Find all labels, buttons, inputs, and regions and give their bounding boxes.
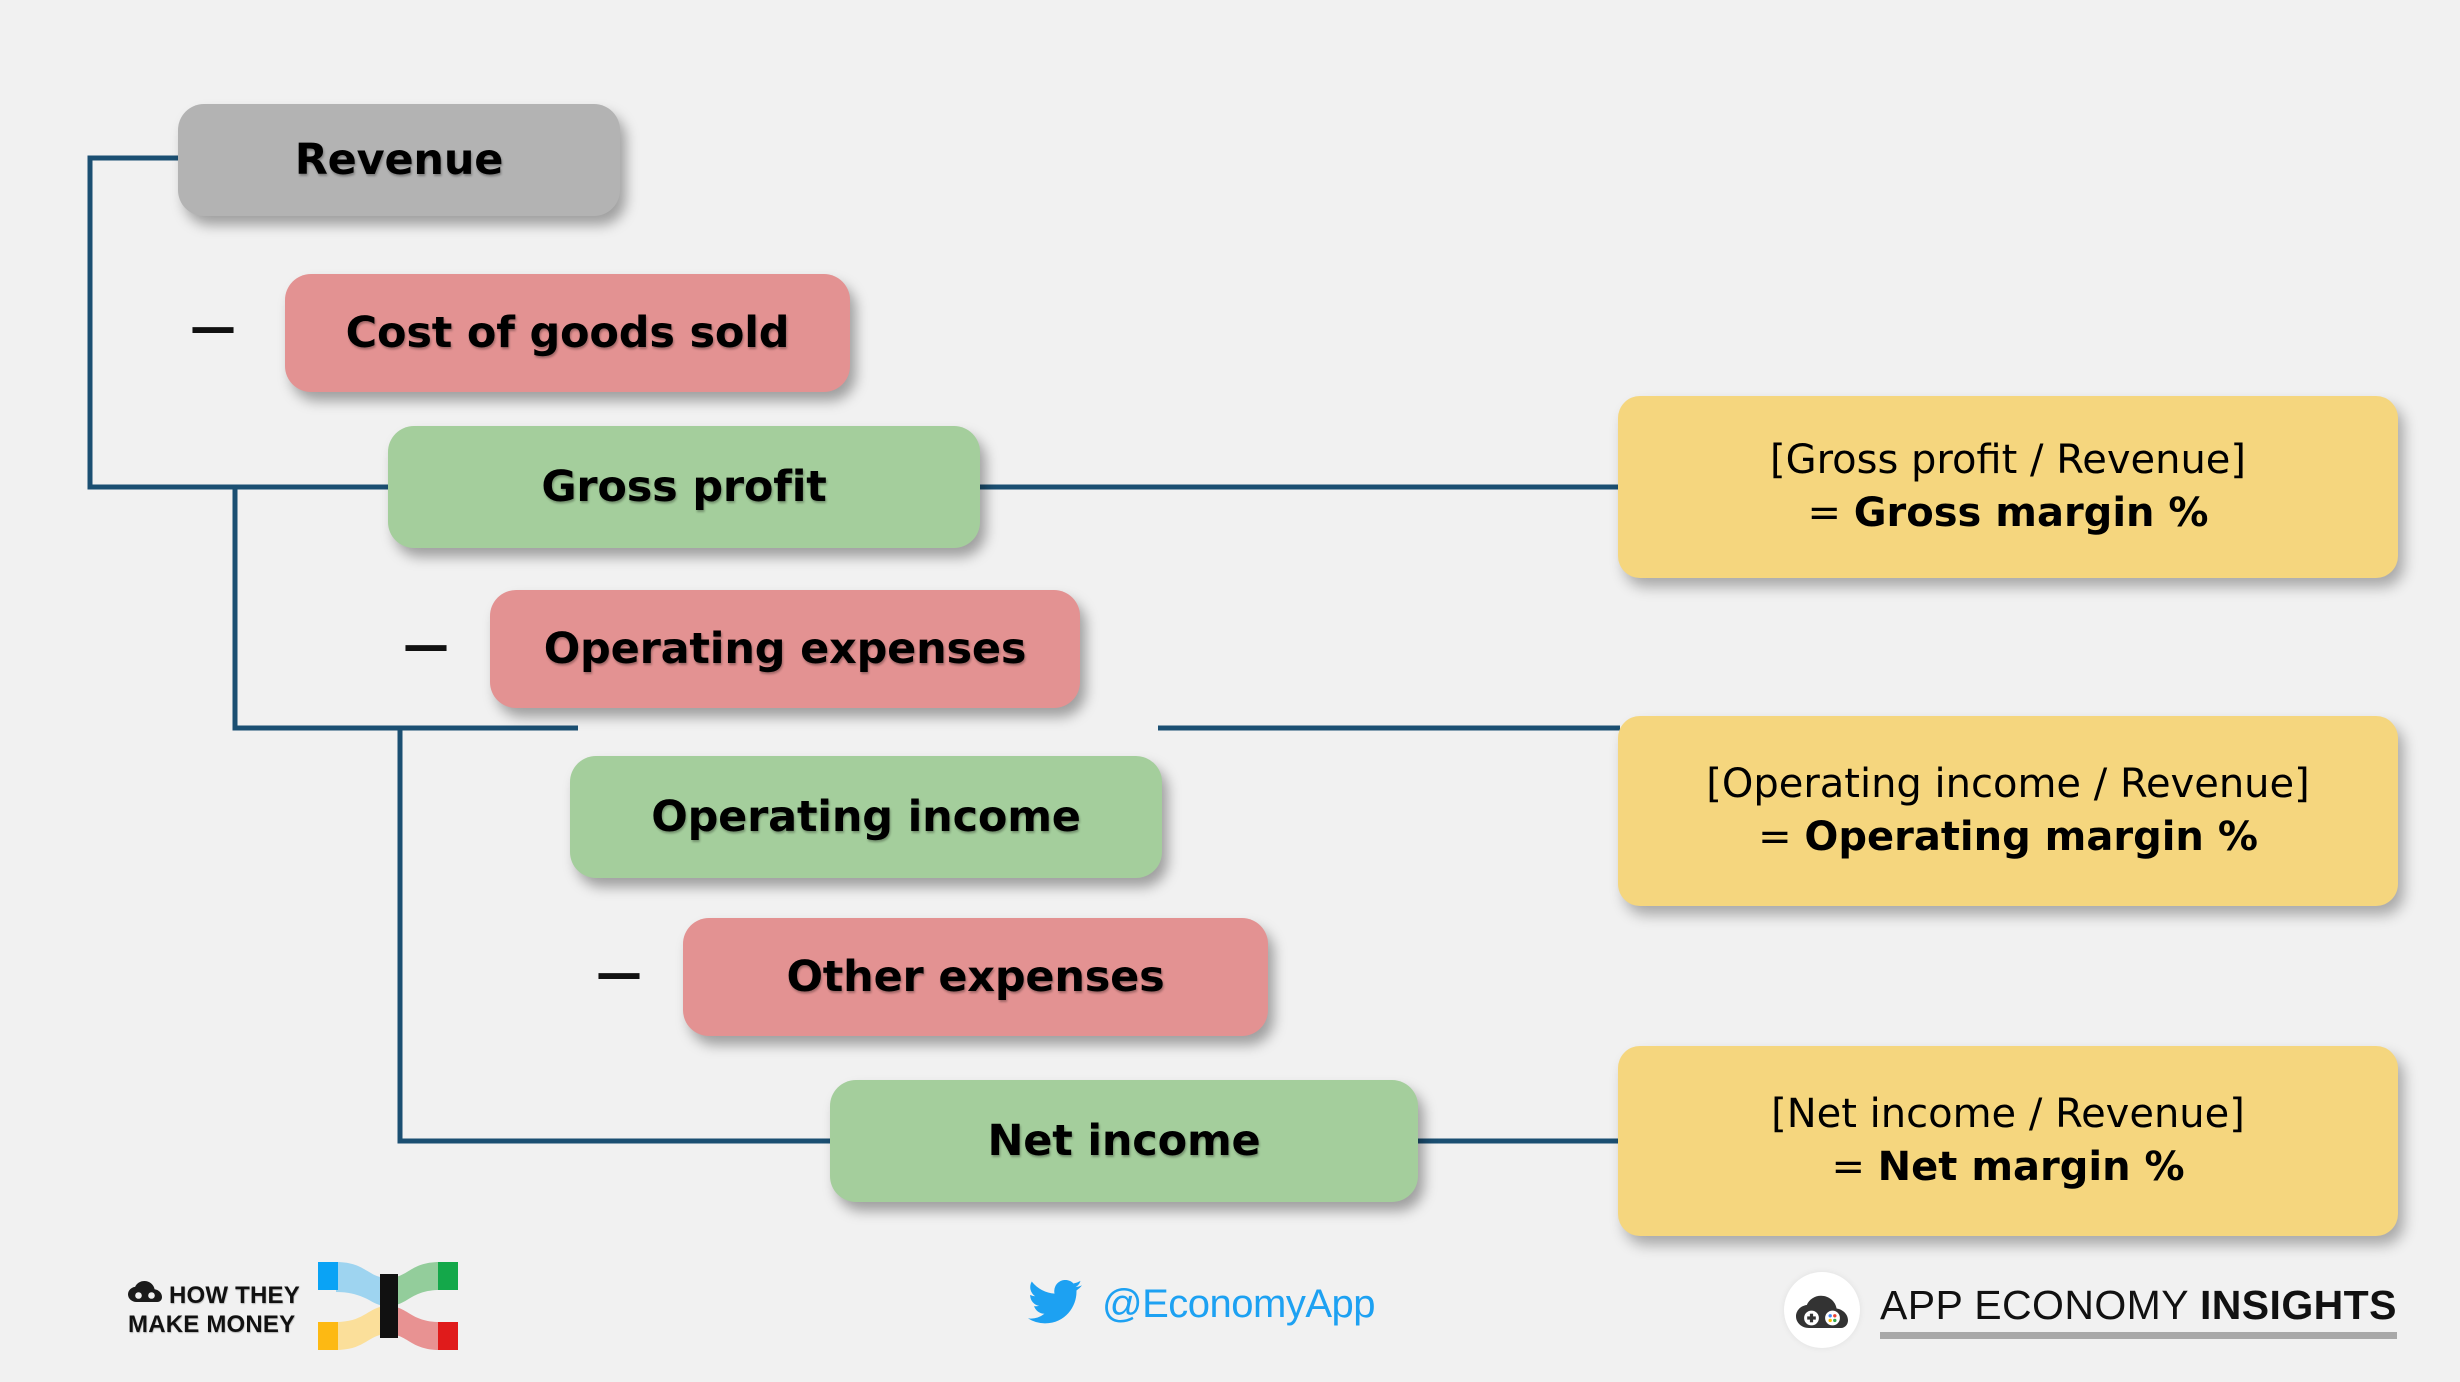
node-operating-income-label: Operating income — [651, 796, 1081, 839]
node-cost-of-goods-sold-label: Cost of goods sold — [346, 312, 790, 355]
cloud-icon — [128, 1281, 162, 1310]
app-economy-insights-underline — [1880, 1332, 2397, 1339]
sankey-crossover-icon — [318, 1258, 458, 1362]
callout-net-margin-value: Net margin % — [1878, 1144, 2185, 1190]
callout-net-margin-equals: = — [1831, 1144, 1877, 1190]
callout-net-margin-formula: [Net income / Revenue] — [1771, 1091, 2245, 1138]
callout-net-margin-result: = Net margin % — [1831, 1144, 2184, 1191]
app-economy-insights-logo[interactable]: APP ECONOMY INSIGHTS — [1784, 1272, 2397, 1348]
how-they-make-money-wordmark: HOW THEY MAKE MONEY — [128, 1281, 300, 1340]
node-gross-profit[interactable]: Gross profit — [388, 426, 980, 548]
twitter-icon — [1028, 1280, 1082, 1329]
callout-operating-margin-formula: [Operating income / Revenue] — [1706, 761, 2310, 808]
node-operating-income[interactable]: Operating income — [570, 756, 1162, 878]
node-other-expenses[interactable]: Other expenses — [683, 918, 1268, 1036]
callout-operating-margin-equals: = — [1758, 814, 1804, 860]
callout-net-margin[interactable]: [Net income / Revenue] = Net margin % — [1618, 1046, 2398, 1236]
node-operating-expenses[interactable]: Operating expenses — [490, 590, 1080, 708]
callout-operating-margin-value: Operating margin % — [1804, 814, 2258, 860]
app-economy-insights-text: APP ECONOMY INSIGHTS — [1880, 1282, 2397, 1329]
node-cost-of-goods-sold[interactable]: Cost of goods sold — [285, 274, 850, 392]
app-economy-insights-wordmark: APP ECONOMY INSIGHTS — [1880, 1282, 2397, 1339]
node-revenue[interactable]: Revenue — [178, 104, 620, 216]
node-gross-profit-label: Gross profit — [541, 466, 826, 509]
minus-sign-other-expenses: — — [596, 950, 642, 996]
node-operating-expenses-label: Operating expenses — [544, 628, 1027, 671]
app-economy-insights-heavy: INSIGHTS — [2200, 1282, 2397, 1328]
twitter-credit[interactable]: @EconomyApp — [1028, 1280, 1375, 1329]
node-net-income-label: Net income — [987, 1120, 1260, 1163]
node-revenue-label: Revenue — [295, 139, 503, 182]
cloud-gamepad-icon — [1796, 1291, 1848, 1329]
callout-gross-margin-formula: [Gross profit / Revenue] — [1770, 437, 2246, 484]
diagram-canvas: Revenue — Cost of goods sold Gross profi… — [0, 0, 2460, 1382]
node-net-income[interactable]: Net income — [830, 1080, 1418, 1202]
callout-gross-margin-result: = Gross margin % — [1807, 490, 2208, 537]
twitter-handle-text: @EconomyApp — [1102, 1282, 1375, 1327]
how-they-make-money-line1: HOW THEY — [169, 1281, 300, 1310]
how-they-make-money-logo: HOW THEY MAKE MONEY — [128, 1258, 458, 1362]
callout-gross-margin-value: Gross margin % — [1854, 490, 2209, 536]
callout-gross-margin[interactable]: [Gross profit / Revenue] = Gross margin … — [1618, 396, 2398, 578]
node-other-expenses-label: Other expenses — [786, 956, 1164, 999]
app-economy-insights-badge — [1784, 1272, 1860, 1348]
minus-sign-operating-expenses: — — [403, 622, 449, 668]
how-they-make-money-line2: MAKE MONEY — [128, 1310, 300, 1339]
app-economy-insights-light: APP ECONOMY — [1880, 1282, 2200, 1328]
minus-sign-cogs: — — [190, 304, 236, 350]
callout-gross-margin-equals: = — [1807, 490, 1853, 536]
callout-operating-margin-result: = Operating margin % — [1758, 814, 2258, 861]
callout-operating-margin[interactable]: [Operating income / Revenue] = Operating… — [1618, 716, 2398, 906]
